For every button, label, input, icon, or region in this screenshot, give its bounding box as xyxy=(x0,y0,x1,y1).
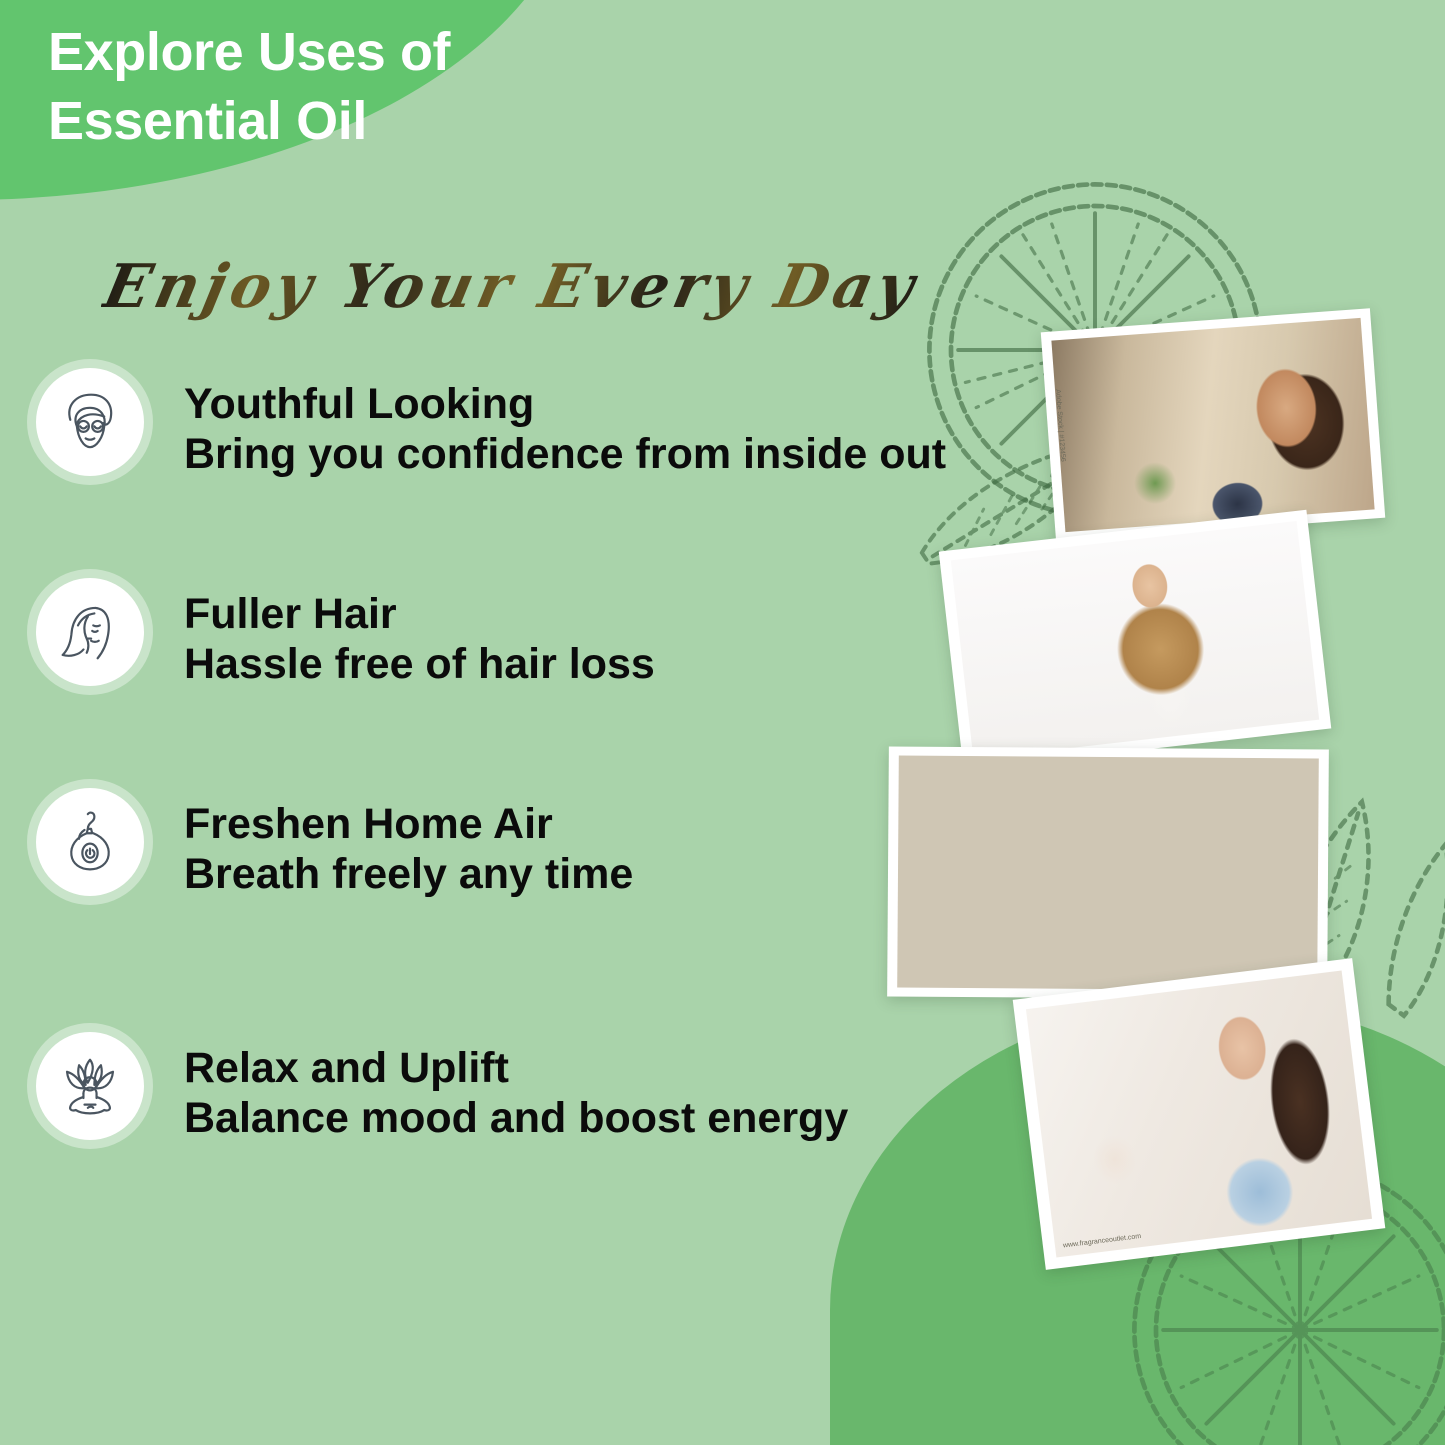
feature-row-fuller-hair: Fuller Hair Hassle free of hair loss xyxy=(36,578,655,690)
feature-subtitle: Balance mood and boost energy xyxy=(184,1094,848,1144)
feature-title: Youthful Looking xyxy=(184,380,946,430)
diffuser-icon xyxy=(36,788,144,896)
photo-living-room-image xyxy=(897,756,1319,991)
photo-perfume: www.fragranceoutlet.com xyxy=(1013,958,1386,1270)
photo-wavy-hair-image xyxy=(951,521,1319,759)
feature-row-youthful-looking: Youthful Looking Bring you confidence fr… xyxy=(36,368,946,480)
hair-woman-icon xyxy=(36,578,144,686)
feature-subtitle: Hassle free of hair loss xyxy=(184,640,655,690)
feature-text-freshen-home-air: Freshen Home Air Breath freely any time xyxy=(184,788,633,900)
feature-text-fuller-hair: Fuller Hair Hassle free of hair loss xyxy=(184,578,655,690)
photo-perfume-image xyxy=(1026,971,1372,1258)
feature-title: Freshen Home Air xyxy=(184,800,633,850)
feature-row-relax-and-uplift: Relax and Uplift Balance mood and boost … xyxy=(36,1032,848,1144)
feature-title: Relax and Uplift xyxy=(184,1044,848,1094)
page-title-line1: Explore Uses of xyxy=(48,18,668,87)
feature-text-relax-and-uplift: Relax and Uplift Balance mood and boost … xyxy=(184,1032,848,1144)
face-mask-icon xyxy=(36,368,144,476)
poster-canvas: Explore Uses of Essential Oil Enjoy Your… xyxy=(0,0,1445,1445)
photo-wavy-hair xyxy=(939,510,1332,770)
photo-woman-smiling: Adobe Stock | #123456 xyxy=(1041,308,1385,542)
feature-row-freshen-home-air: Freshen Home Air Breath freely any time xyxy=(36,788,633,900)
lotus-meditation-icon xyxy=(36,1032,144,1140)
feature-subtitle: Breath freely any time xyxy=(184,850,633,900)
feature-text-youthful-looking: Youthful Looking Bring you confidence fr… xyxy=(184,368,946,480)
page-title-line2: Essential Oil xyxy=(48,87,668,156)
photo-living-room xyxy=(887,746,1329,999)
feature-subtitle: Bring you confidence from inside out xyxy=(184,430,946,480)
photo-woman-smiling-image xyxy=(1051,318,1374,532)
page-title: Explore Uses of Essential Oil xyxy=(48,18,668,156)
tagline: Enjoy Your Every Day xyxy=(98,252,925,322)
feature-title: Fuller Hair xyxy=(184,590,655,640)
